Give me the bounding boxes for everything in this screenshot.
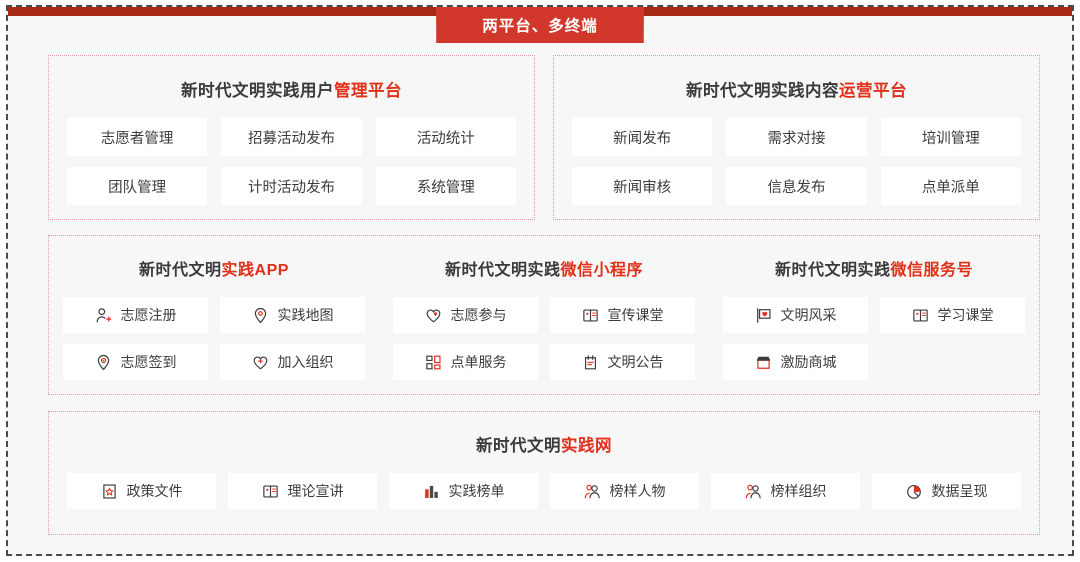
list-item[interactable]: 招募活动发布 bbox=[221, 118, 361, 156]
user-plus-icon bbox=[95, 307, 112, 324]
map-pin-check-icon bbox=[95, 354, 112, 371]
title-dark-part: 新时代文明实践内容 bbox=[686, 82, 839, 100]
content-platform-card-grid: 新闻发布 需求对接 培训管理 新闻审核 信息发布 点单派单 bbox=[554, 101, 1039, 205]
list-item-label: 实践地图 bbox=[278, 308, 334, 322]
list-item[interactable]: 志愿注册 bbox=[63, 297, 208, 333]
terminal-column-mini-program: 新时代文明实践微信小程序 志愿参与 宣传课堂 bbox=[379, 236, 709, 394]
title-dark-part: 新时代文明实践 bbox=[775, 262, 891, 279]
pie-chart-icon bbox=[906, 483, 923, 500]
list-item[interactable]: 志愿者管理 bbox=[67, 118, 207, 156]
website-card-grid: 政策文件 理论宣讲 实践榜单 榜样人物 bbox=[49, 456, 1039, 509]
two-people-icon bbox=[745, 483, 762, 500]
service-grid-icon bbox=[425, 354, 442, 371]
list-item-label: 志愿参与 bbox=[451, 308, 507, 322]
title-dark-part: 新时代文明实践 bbox=[445, 262, 561, 279]
user-platform-card-grid: 志愿者管理 招募活动发布 活动统计 团队管理 计时活动发布 系统管理 bbox=[49, 101, 534, 205]
list-item-label: 志愿签到 bbox=[121, 355, 177, 369]
list-item-label: 点单服务 bbox=[451, 355, 507, 369]
list-item[interactable]: 加入组织 bbox=[220, 344, 365, 380]
list-item[interactable]: 理论宣讲 bbox=[228, 473, 377, 509]
list-item[interactable]: 政策文件 bbox=[67, 473, 216, 509]
list-item-label: 政策文件 bbox=[127, 484, 183, 498]
list-item-label: 实践榜单 bbox=[449, 484, 505, 498]
list-item[interactable]: 系统管理 bbox=[376, 167, 516, 205]
panel-title-service-account: 新时代文明实践微信服务号 bbox=[723, 256, 1025, 280]
open-book-icon bbox=[262, 483, 279, 500]
list-item-label: 志愿注册 bbox=[121, 308, 177, 322]
list-item[interactable]: 团队管理 bbox=[67, 167, 207, 205]
heart-icon bbox=[425, 307, 442, 324]
panel-title-app: 新时代文明实践APP bbox=[63, 256, 365, 280]
flag-heart-icon bbox=[755, 307, 772, 324]
two-people-icon bbox=[584, 483, 601, 500]
list-item-label: 激励商城 bbox=[781, 355, 837, 369]
top-accent-bar bbox=[8, 7, 1072, 16]
list-item[interactable]: 宣传课堂 bbox=[550, 297, 695, 333]
title-highlight-part: 实践APP bbox=[222, 262, 289, 279]
list-item[interactable]: 需求对接 bbox=[726, 118, 866, 156]
terminal-column-service-account: 新时代文明实践微信服务号 文明风采 学习课堂 bbox=[709, 236, 1039, 394]
list-item-label: 文明风采 bbox=[781, 308, 837, 322]
list-item[interactable]: 活动统计 bbox=[376, 118, 516, 156]
list-item-label: 榜样组织 bbox=[771, 484, 827, 498]
mini-program-card-grid: 志愿参与 宣传课堂 点单服务 bbox=[393, 297, 695, 380]
list-item[interactable]: 信息发布 bbox=[726, 167, 866, 205]
doc-star-icon bbox=[101, 483, 118, 500]
list-item[interactable]: 新闻审核 bbox=[572, 167, 712, 205]
list-item[interactable]: 榜样组织 bbox=[711, 473, 860, 509]
list-item-label: 理论宣讲 bbox=[288, 484, 344, 498]
list-item-label: 数据呈现 bbox=[932, 484, 988, 498]
list-item-label: 学习课堂 bbox=[938, 308, 994, 322]
list-item-label: 宣传课堂 bbox=[608, 308, 664, 322]
title-highlight-part: 管理平台 bbox=[334, 82, 402, 100]
title-dark-part: 新时代文明 bbox=[139, 262, 222, 279]
notice-board-icon bbox=[582, 354, 599, 371]
list-item[interactable]: 文明风采 bbox=[723, 297, 868, 333]
list-item[interactable]: 实践榜单 bbox=[389, 473, 538, 509]
service-account-card-grid: 文明风采 学习课堂 激励商城 bbox=[723, 297, 1025, 380]
list-item[interactable]: 新闻发布 bbox=[572, 118, 712, 156]
list-item[interactable]: 点单派单 bbox=[881, 167, 1021, 205]
list-item[interactable]: 计时活动发布 bbox=[221, 167, 361, 205]
heart-plus-icon bbox=[252, 354, 269, 371]
list-item[interactable]: 点单服务 bbox=[393, 344, 538, 380]
shop-icon bbox=[755, 354, 772, 371]
app-card-grid: 志愿注册 实践地图 志愿签到 bbox=[63, 297, 365, 380]
list-item[interactable]: 数据呈现 bbox=[872, 473, 1021, 509]
list-item[interactable]: 志愿参与 bbox=[393, 297, 538, 333]
list-item[interactable]: 实践地图 bbox=[220, 297, 365, 333]
open-book-icon bbox=[912, 307, 929, 324]
list-item-label: 榜样人物 bbox=[610, 484, 666, 498]
panel-content-operation-platform: 新时代文明实践内容运营平台 新闻发布 需求对接 培训管理 新闻审核 信息发布 点… bbox=[553, 55, 1040, 220]
list-item-label: 加入组织 bbox=[278, 355, 334, 369]
terminal-column-app: 新时代文明实践APP 志愿注册 实践地图 bbox=[49, 236, 379, 394]
title-highlight-part: 微信服务号 bbox=[891, 262, 974, 279]
diagram-frame: 两平台、多终端 新时代文明实践用户管理平台 志愿者管理 招募活动发布 活动统计 … bbox=[6, 5, 1074, 556]
panel-terminals: 新时代文明实践APP 志愿注册 实践地图 bbox=[48, 235, 1040, 395]
bar-chart-icon bbox=[423, 483, 440, 500]
map-pin-icon bbox=[252, 307, 269, 324]
list-item[interactable]: 激励商城 bbox=[723, 344, 868, 380]
title-highlight-part: 微信小程序 bbox=[561, 262, 644, 279]
panel-title-user-management: 新时代文明实践用户管理平台 bbox=[49, 77, 534, 101]
list-item[interactable]: 学习课堂 bbox=[880, 297, 1025, 333]
open-book-icon bbox=[582, 307, 599, 324]
panel-title-website: 新时代文明实践网 bbox=[49, 432, 1039, 456]
list-item[interactable]: 培训管理 bbox=[881, 118, 1021, 156]
list-item-label: 文明公告 bbox=[608, 355, 664, 369]
title-highlight-part: 运营平台 bbox=[839, 82, 907, 100]
panel-user-management-platform: 新时代文明实践用户管理平台 志愿者管理 招募活动发布 活动统计 团队管理 计时活… bbox=[48, 55, 535, 220]
list-item[interactable]: 榜样人物 bbox=[550, 473, 699, 509]
title-dark-part: 新时代文明 bbox=[476, 437, 561, 455]
title-highlight-part: 实践网 bbox=[561, 437, 612, 455]
list-item[interactable]: 志愿签到 bbox=[63, 344, 208, 380]
panel-title-mini-program: 新时代文明实践微信小程序 bbox=[393, 256, 695, 280]
banner-label: 两平台、多终端 bbox=[482, 14, 598, 36]
list-item[interactable]: 文明公告 bbox=[550, 344, 695, 380]
panel-website: 新时代文明实践网 政策文件 理论宣讲 实践榜单 bbox=[48, 411, 1040, 535]
panel-title-content-operation: 新时代文明实践内容运营平台 bbox=[554, 77, 1039, 101]
title-dark-part: 新时代文明实践用户 bbox=[181, 82, 334, 100]
